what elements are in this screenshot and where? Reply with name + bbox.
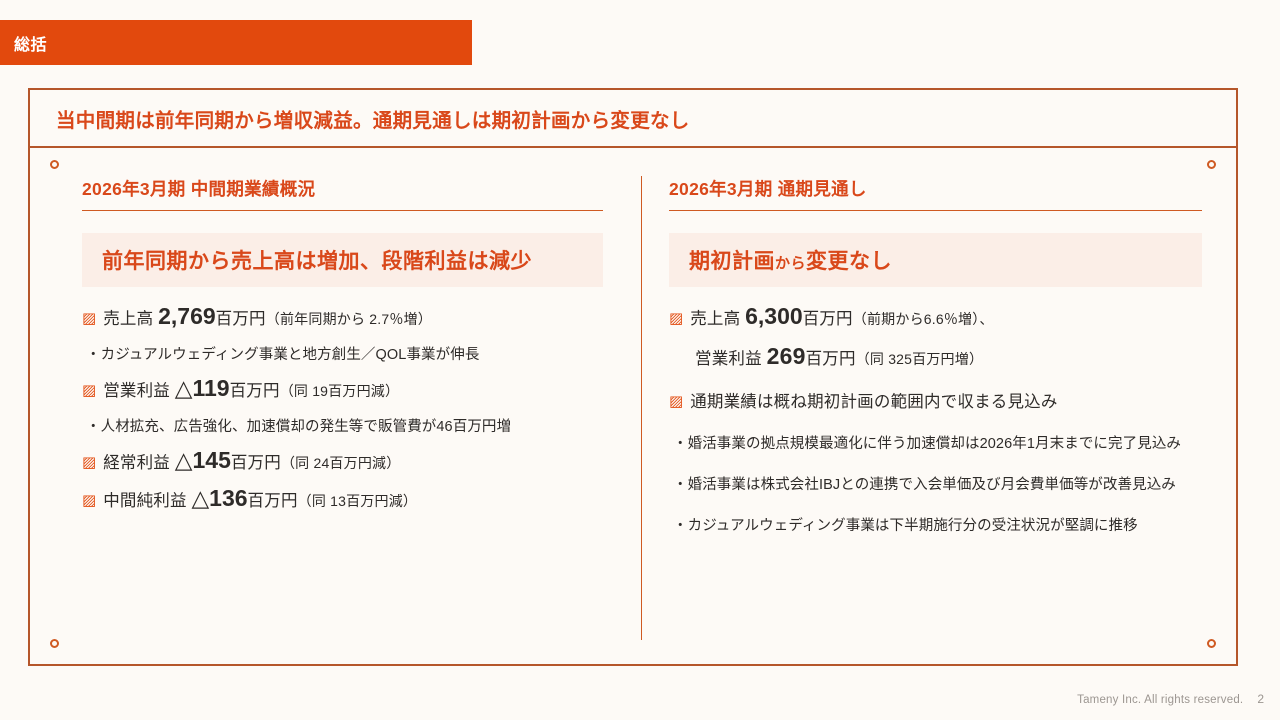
metric-value: 269 [767, 343, 806, 369]
metric-note: （同 24百万円減） [281, 455, 400, 471]
headline-text: 当中間期は前年同期から増収減益。通期見通しは期初計画から変更なし [56, 104, 690, 133]
metric-unit: 百万円 [230, 382, 280, 400]
metric-unit: 百万円 [216, 310, 266, 328]
list-item: ▨ 売上高 2,769百万円（前年同期から 2.7％増） [82, 303, 611, 330]
right-highlight-tail: 変更なし [806, 250, 892, 273]
hatched-square-bullet-icon: ▨ [82, 311, 96, 326]
metric-value: △145 [175, 447, 231, 473]
hatched-square-bullet-icon: ▨ [82, 493, 96, 508]
metric-value: 6,300 [745, 303, 803, 329]
list-item: ▨ 売上高 6,300百万円（前期から6.6％増）、 [669, 303, 1216, 330]
metric-value: △119 [175, 375, 230, 401]
left-highlight-text: 前年同期から売上高は増加、段階利益は減少 [102, 245, 532, 275]
metric-label: 中間純利益 [103, 492, 187, 510]
metric-note: （同 325百万円増） [856, 351, 983, 367]
metric-label: 営業利益 [103, 382, 170, 400]
footer: Tameny Inc. All rights reserved. 2 [1077, 692, 1264, 706]
metric-unit: 百万円 [248, 492, 298, 510]
sub-list-item: ・カジュアルウェディング事業と地方創生／QOL事業が伸長 [86, 343, 611, 364]
section-title-bar: 総括 [0, 20, 472, 65]
right-bullet-list: ▨ 売上高 6,300百万円（前期から6.6％増）、 営業利益 269百万円（同… [669, 303, 1216, 535]
metric-label: 経常利益 [103, 454, 170, 472]
metric-label: 営業利益 [695, 350, 762, 368]
corner-ring-top-left-icon [50, 160, 59, 169]
content-frame: 当中間期は前年同期から増収減益。通期見通しは期初計画から変更なし 2026年3月… [28, 88, 1238, 666]
hatched-square-bullet-icon: ▨ [669, 311, 683, 326]
list-item: ▨ 営業利益 △119百万円（同 19百万円減） [82, 375, 611, 402]
list-item-text: 売上高 2,769百万円（前年同期から 2.7％増） [103, 303, 432, 330]
list-item: ▨ 経常利益 △145百万円（同 24百万円減） [82, 447, 611, 474]
list-item-continuation: 営業利益 269百万円（同 325百万円増） [695, 343, 1216, 370]
list-item: ▨ 中間純利益 △136百万円（同 13百万円減） [82, 485, 611, 512]
left-column-title: 2026年3月期 中間期業績概況 [82, 176, 603, 211]
left-highlight-box: 前年同期から売上高は増加、段階利益は減少 [82, 233, 603, 287]
list-item-text: 営業利益 △119百万円（同 19百万円減） [103, 375, 399, 402]
section-title-label: 総括 [14, 31, 47, 55]
list-item-text: 中間純利益 △136百万円（同 13百万円減） [103, 485, 417, 512]
right-highlight-text: 期初計画から変更なし [689, 245, 892, 275]
metric-note: （同 13百万円減） [298, 493, 417, 509]
right-highlight-main: 期初計画 [689, 250, 775, 273]
headline-container: 当中間期は前年同期から増収減益。通期見通しは期初計画から変更なし [30, 90, 1236, 148]
metric-unit: 百万円 [231, 454, 281, 472]
right-highlight-box: 期初計画から変更なし [669, 233, 1202, 287]
corner-ring-top-right-icon [1207, 160, 1216, 169]
list-item-text: 経常利益 △145百万円（同 24百万円減） [103, 447, 400, 474]
sub-list-item: ・婚活事業の拠点規模最適化に伴う加速償却は2026年1月末までに完了見込み [673, 432, 1216, 453]
footer-page-number: 2 [1257, 692, 1264, 706]
metric-value: 2,769 [158, 303, 216, 329]
list-item-text: 通期業績は概ね期初計画の範囲内で収まる見込み [690, 388, 1057, 412]
two-column-body: 2026年3月期 中間期業績概況 前年同期から売上高は増加、段階利益は減少 ▨ … [30, 176, 1236, 644]
metric-note: （前期から6.6％増）、 [853, 311, 994, 327]
hatched-square-bullet-icon: ▨ [82, 455, 96, 470]
right-highlight-small: から [775, 255, 806, 272]
hatched-square-bullet-icon: ▨ [669, 394, 683, 409]
metric-label: 売上高 [103, 310, 153, 328]
right-column-title: 2026年3月期 通期見通し [669, 176, 1202, 211]
sub-list-item: ・婚活事業は株式会社IBJとの連携で入会単価及び月会費単価等が改善見込み [673, 473, 1216, 494]
left-bullet-list: ▨ 売上高 2,769百万円（前年同期から 2.7％増） ・カジュアルウェディン… [82, 303, 611, 512]
list-item: ▨ 通期業績は概ね期初計画の範囲内で収まる見込み [669, 388, 1216, 412]
metric-note: （同 19百万円減） [280, 383, 399, 399]
metric-value: △136 [191, 485, 247, 511]
sub-list-item: ・カジュアルウェディング事業は下半期施行分の受注状況が堅調に推移 [673, 514, 1216, 535]
metric-label: 売上高 [690, 310, 740, 328]
hatched-square-bullet-icon: ▨ [82, 383, 96, 398]
metric-unit: 百万円 [806, 350, 856, 368]
metric-note: （前年同期から 2.7％増） [266, 311, 432, 327]
sub-list-item: ・人材拡充、広告強化、加速償却の発生等で販管費が46百万円増 [86, 415, 611, 436]
metric-unit: 百万円 [803, 310, 853, 328]
right-column: 2026年3月期 通期見通し 期初計画から変更なし ▨ 売上高 6,300百万円… [641, 176, 1236, 644]
list-item-text: 売上高 6,300百万円（前期から6.6％増）、 [690, 303, 993, 330]
left-column: 2026年3月期 中間期業績概況 前年同期から売上高は増加、段階利益は減少 ▨ … [30, 176, 641, 644]
footer-copyright: Tameny Inc. All rights reserved. [1077, 694, 1243, 706]
